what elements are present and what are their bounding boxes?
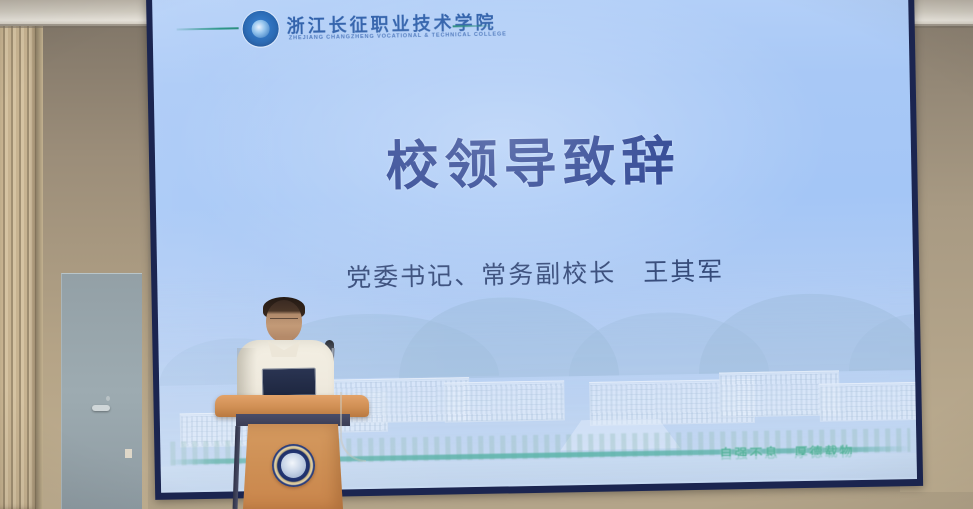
stage-foreground [0,0,973,509]
presentation-hall-photo: 浙江长征职业技术学院 ZHEJIANG CHANGZHENG VOCATIONA… [0,0,973,509]
microphone-cable [340,392,366,462]
glasses-icon [270,318,298,323]
podium-leg [233,426,241,509]
confidence-monitor [262,368,316,397]
school-crest-icon [272,444,315,487]
